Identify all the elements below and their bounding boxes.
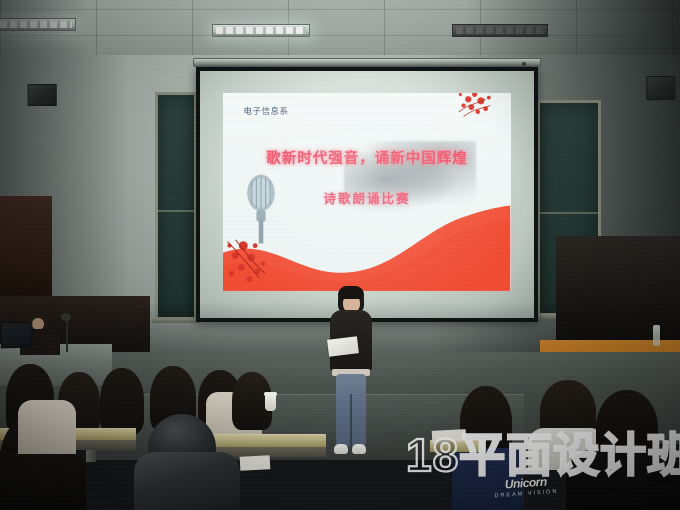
- laptop[interactable]: [1, 322, 33, 349]
- audience-jacket-camo: [134, 452, 240, 510]
- projection-screen-surface: 电子信息系 歌新时代强音，诵新中国辉煌 诗歌朗诵比赛: [200, 71, 534, 318]
- slide-department-label: 电子信息系: [243, 105, 288, 117]
- paper-cup: [265, 394, 276, 411]
- desk-papers: [240, 455, 271, 471]
- presenter-shoe-left: [334, 444, 348, 454]
- presenter-papers: [327, 336, 359, 357]
- doorway-left: [0, 196, 52, 308]
- classroom-photo: 电子信息系 歌新时代强音，诵新中国辉煌 诗歌朗诵比赛: [0, 0, 680, 510]
- slide-title: 歌新时代强音，诵新中国辉煌: [223, 147, 510, 168]
- ceiling: [0, 0, 680, 62]
- wall-speaker-right: [646, 76, 675, 100]
- presenter: [322, 286, 378, 460]
- water-bottle: [653, 325, 660, 346]
- presenter-bangs: [338, 286, 364, 299]
- presenter-leg-gap: [350, 394, 352, 446]
- slide-subtitle: 诗歌朗诵比赛: [223, 188, 510, 207]
- presenter-shoe-right: [352, 444, 366, 454]
- ceiling-shadow-left: [0, 0, 90, 62]
- projection-screen-frame: 电子信息系 歌新时代强音，诵新中国辉煌 诗歌朗诵比赛: [196, 67, 538, 322]
- audience-coat-cream: [18, 400, 76, 454]
- roller-knob-icon: [522, 62, 526, 66]
- ceiling-shadow-right: [465, 0, 680, 62]
- audience-torso: [0, 452, 86, 510]
- audience-head: [100, 368, 144, 434]
- wall-speaker-left: [28, 84, 57, 106]
- microphone-stand: [66, 318, 68, 352]
- presentation-slide: 电子信息系 歌新时代强音，诵新中国辉煌 诗歌朗诵比赛: [223, 93, 510, 291]
- blossom-graphic-top-right: [442, 93, 511, 148]
- microphone-head-icon: [61, 313, 71, 321]
- projector-screen-roller[interactable]: [193, 58, 541, 67]
- blossom-graphic-bottom-left: [223, 216, 303, 291]
- watermark-text: 18平面设计班: [406, 432, 680, 478]
- chalkboard-left: [155, 92, 197, 320]
- ceiling-light-2: [212, 24, 310, 37]
